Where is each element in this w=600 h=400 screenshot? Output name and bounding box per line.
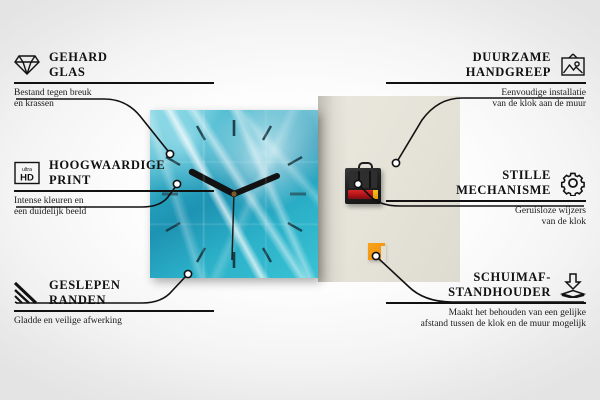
feature-title: HOOGWAARDIGE PRINT [49, 158, 165, 187]
feature-head: GESLEPEN RANDEN [14, 278, 214, 307]
ultra-hd-icon: ultra HD [14, 160, 40, 186]
feature-description: Bestand tegen breuk en krassen [14, 88, 214, 111]
feature-divider [386, 200, 586, 202]
clock-second-hand [232, 190, 234, 260]
feature-ground-edges: GESLEPEN RANDEN Gladde en veilige afwerk… [14, 278, 214, 327]
feature-head: DUURZAME HANDGREEP [386, 50, 586, 79]
clock-center-cap [231, 191, 236, 196]
clock-movement [345, 168, 381, 204]
foam-spacer-piece [368, 243, 385, 260]
feature-divider [386, 82, 586, 84]
feature-description: Intense kleuren en een duidelijk beeld [14, 196, 214, 219]
picture-frame-icon [560, 52, 586, 78]
feature-head: STILLE MECHANISME [386, 168, 586, 197]
svg-text:HD: HD [20, 172, 34, 183]
product-feature-infographic: GEHARD GLAS Bestand tegen breuk en krass… [0, 0, 600, 400]
battery [348, 190, 378, 199]
feature-title: DUURZAME HANDGREEP [466, 50, 551, 79]
feature-title: GEHARD GLAS [49, 50, 107, 79]
feature-tempered-glass: GEHARD GLAS Bestand tegen breuk en krass… [14, 50, 214, 111]
feature-title: GESLEPEN RANDEN [49, 278, 121, 307]
battery-positive-tip [373, 190, 378, 199]
feature-hd-print: ultra HD HOOGWAARDIGE PRINT Intense kleu… [14, 158, 214, 219]
feature-head: ultra HD HOOGWAARDIGE PRINT [14, 158, 214, 187]
feature-description: Eenvoudige installatie van de klok aan d… [386, 88, 586, 111]
movement-housing [349, 171, 377, 188]
feature-divider [14, 82, 214, 84]
beveled-edges-icon [14, 280, 40, 306]
feature-head: SCHUIMAF- STANDHOUDER [386, 270, 586, 299]
feature-description: Gladde en veilige afwerking [14, 316, 214, 328]
gear-icon [560, 170, 586, 196]
feature-title: STILLE MECHANISME [456, 168, 551, 197]
feature-divider [386, 302, 586, 304]
clock-minute-hand [234, 176, 277, 194]
feature-description: Geruisloze wijzers van de klok [386, 206, 586, 229]
feature-head: GEHARD GLAS [14, 50, 214, 79]
feature-divider [14, 310, 214, 312]
wall-panel-shadow [318, 96, 348, 282]
spacer-press-icon [560, 272, 586, 298]
feature-silent-mechanism: STILLE MECHANISME Geruisloze wijzers van… [386, 168, 586, 229]
feature-title: SCHUIMAF- STANDHOUDER [448, 270, 551, 299]
diamond-icon [14, 52, 40, 78]
feature-durable-handle: DUURZAME HANDGREEP Eenvoudige installati… [386, 50, 586, 111]
feature-description: Maakt het behouden van een gelijke afsta… [386, 308, 586, 331]
feature-divider [14, 190, 214, 192]
feature-foam-spacer: SCHUIMAF- STANDHOUDER Maakt het behouden… [386, 270, 586, 331]
